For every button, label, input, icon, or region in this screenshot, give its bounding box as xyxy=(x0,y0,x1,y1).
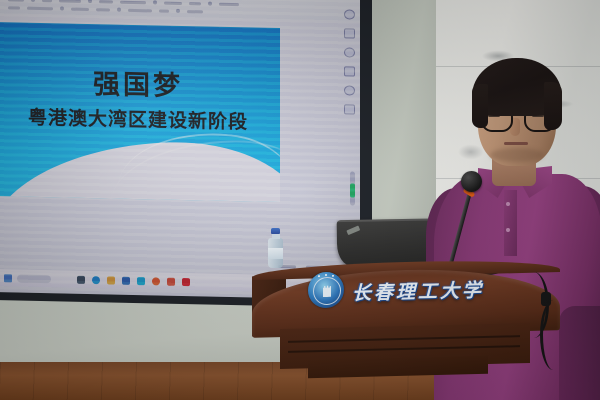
water-bottle xyxy=(268,238,283,268)
start-button-icon[interactable] xyxy=(4,274,12,282)
seal-inner-field xyxy=(313,277,341,306)
taskbar-icons[interactable] xyxy=(77,275,190,285)
shopping-icon[interactable] xyxy=(182,277,190,285)
tower-icon xyxy=(323,285,331,297)
hair-side-right xyxy=(544,82,562,130)
mouth xyxy=(504,142,528,145)
shirt-placket xyxy=(504,190,517,256)
media-icon[interactable] xyxy=(167,277,175,285)
slide-title: 强国梦 xyxy=(0,60,280,105)
media-icon[interactable] xyxy=(344,104,355,114)
chat-icon[interactable] xyxy=(152,277,160,285)
bottle-cap xyxy=(271,228,280,234)
settings-icon[interactable] xyxy=(344,85,355,95)
institution-name: 长春理工大学 xyxy=(352,275,484,305)
gear-icon[interactable] xyxy=(344,47,355,57)
hair-side-left xyxy=(472,84,488,128)
presentation-app-toolbar[interactable] xyxy=(0,0,360,22)
audio-cable xyxy=(540,300,569,370)
search-input[interactable] xyxy=(17,274,51,283)
slide-canvas[interactable]: 强国梦 粤港澳大湾区建设新阶段 xyxy=(0,22,280,202)
presentation-room-photo: 强国梦 粤港澳大湾区建设新阶段 xyxy=(0,0,600,400)
bottle-label xyxy=(268,248,283,259)
slide-subtitle: 粤港澳大湾区建设新阶段 xyxy=(0,102,280,135)
chin-shadow xyxy=(490,148,544,162)
image-icon[interactable] xyxy=(344,66,355,76)
app-side-rail[interactable] xyxy=(342,9,356,129)
projected-screen[interactable]: 强国梦 粤港澳大湾区建设新阶段 xyxy=(0,0,360,300)
projection-screen-frame: 强国梦 粤港澳大湾区建设新阶段 xyxy=(0,0,372,308)
microphone-head xyxy=(461,171,482,192)
app-blue-icon[interactable] xyxy=(122,276,130,284)
browser-icon[interactable] xyxy=(92,276,100,284)
briefcase-icon[interactable] xyxy=(137,277,145,285)
shirt-button xyxy=(506,202,510,206)
laptop-logo-icon xyxy=(346,226,360,236)
shirt-button xyxy=(506,228,510,232)
file-explorer-icon[interactable] xyxy=(77,275,85,283)
shape-icon[interactable] xyxy=(344,9,355,19)
folder-icon[interactable] xyxy=(107,276,115,284)
scrollbar-accent xyxy=(350,183,355,197)
list-icon[interactable] xyxy=(344,28,355,38)
